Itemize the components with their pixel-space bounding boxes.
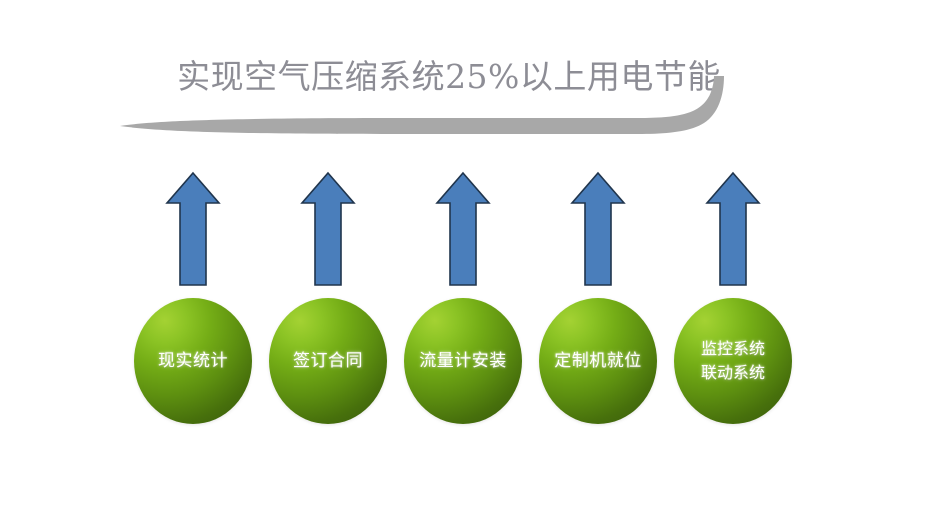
process-node-step-2[interactable]: 签订合同 xyxy=(269,298,387,424)
up-arrow-step-3 xyxy=(434,170,492,288)
process-node-step-4[interactable]: 定制机就位 xyxy=(539,298,657,424)
process-node-step-3[interactable]: 流量计安装 xyxy=(404,298,522,424)
process-node-label: 流量计安装 xyxy=(415,350,511,373)
up-arrow-step-1 xyxy=(164,170,222,288)
process-node-label: 定制机就位 xyxy=(550,350,646,373)
up-arrow-step-5 xyxy=(704,170,762,288)
process-node-label: 现实统计 xyxy=(154,350,232,373)
up-arrow-step-2 xyxy=(299,170,357,288)
process-node-step-5[interactable]: 监控系统 联动系统 xyxy=(674,298,792,424)
process-node-label: 监控系统 联动系统 xyxy=(697,337,769,385)
process-node-label: 签订合同 xyxy=(289,350,367,373)
up-arrow-step-4 xyxy=(569,170,627,288)
process-node-step-1[interactable]: 现实统计 xyxy=(134,298,252,424)
title-banner: 实现空气压缩系统25%以上用电节能 xyxy=(118,34,778,134)
title-underline-swoosh xyxy=(118,90,778,148)
slide-canvas: 实现空气压缩系统25%以上用电节能 现实统计 签订合同 流量计安装 定制机就位 … xyxy=(0,0,945,529)
